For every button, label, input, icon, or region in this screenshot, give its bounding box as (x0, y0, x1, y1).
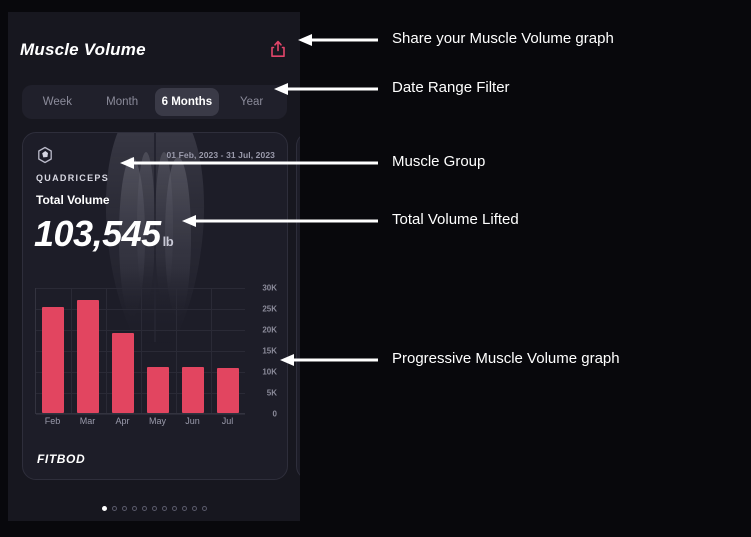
chart-bar[interactable] (112, 333, 134, 413)
muscle-group-icon (36, 146, 54, 164)
filter-option-month[interactable]: Month (90, 88, 155, 116)
chart-y-axis: 30K25K20K15K10K5K0 (249, 288, 277, 414)
annotation-arrow-total-volume (180, 214, 378, 228)
annotation-muscle-group: Muscle Group (392, 153, 485, 170)
chart-y-tick: 5K (267, 389, 277, 398)
annotation-arrow-progress-graph (278, 353, 378, 367)
chart-plot-area (35, 288, 245, 414)
chart-y-tick: 0 (273, 410, 277, 419)
chart-x-tick: Apr (108, 416, 138, 426)
chart-bars (36, 288, 245, 413)
annotation-progress-graph: Progressive Muscle Volume graph (392, 350, 620, 367)
pagination-dot[interactable] (202, 506, 207, 511)
chart-bar[interactable] (42, 307, 64, 413)
total-volume-value: 103,545lb (34, 213, 173, 255)
chart-y-tick: 10K (262, 368, 277, 377)
date-range-filter[interactable]: Week Month 6 Months Year (22, 85, 287, 119)
pagination-dot[interactable] (162, 506, 167, 511)
chart-bar[interactable] (147, 367, 169, 413)
pagination-dot[interactable] (182, 506, 187, 511)
annotation-arrow-muscle-group (118, 156, 378, 170)
chart-bar[interactable] (77, 300, 99, 413)
chart-bar[interactable] (182, 367, 204, 413)
chart-y-tick: 25K (262, 305, 277, 314)
pagination-dot[interactable] (152, 506, 157, 511)
chart-bar[interactable] (217, 368, 239, 413)
filter-option-6-months[interactable]: 6 Months (155, 88, 220, 116)
chart-gridline-h (36, 414, 245, 415)
annotation-arrow-date-filter (272, 82, 378, 96)
pagination-dot[interactable] (122, 506, 127, 511)
pagination-dot[interactable] (142, 506, 147, 511)
chart-x-tick: Feb (38, 416, 68, 426)
phone-screen: Muscle Volume Week Month 6 Months Year (8, 12, 300, 521)
total-volume-number: 103,545 (34, 213, 161, 254)
muscle-volume-card-next[interactable] (296, 132, 300, 480)
chart-y-tick: 15K (262, 347, 277, 356)
total-volume-unit: lb (163, 234, 174, 249)
chart-x-tick: May (143, 416, 173, 426)
chart-y-tick: 30K (262, 284, 277, 293)
chart-x-axis: FebMarAprMayJunJul (35, 416, 245, 426)
pagination-dot[interactable] (172, 506, 177, 511)
annotation-total-volume: Total Volume Lifted (392, 211, 519, 228)
filter-option-week[interactable]: Week (25, 88, 90, 116)
annotation-arrow-share (296, 33, 378, 47)
pagination-dot[interactable] (192, 506, 197, 511)
chart-y-tick: 20K (262, 326, 277, 335)
fitbod-logo: FITBOD (37, 452, 85, 466)
share-icon[interactable] (270, 40, 286, 58)
pagination-dot[interactable] (132, 506, 137, 511)
pagination-dot[interactable] (112, 506, 117, 511)
chart-x-tick: Mar (73, 416, 103, 426)
chart-x-tick: Jul (213, 416, 243, 426)
pagination-dot[interactable] (102, 506, 107, 511)
total-volume-label: Total Volume (36, 193, 110, 207)
carousel-pagination[interactable] (8, 506, 300, 511)
annotation-date-filter: Date Range Filter (392, 79, 510, 96)
screenshot-root: Muscle Volume Week Month 6 Months Year (0, 0, 751, 537)
app-header: Muscle Volume (8, 12, 300, 72)
muscle-volume-chart: 30K25K20K15K10K5K0 FebMarAprMayJunJul (35, 288, 277, 433)
muscle-volume-card[interactable]: 01 Feb, 2023 - 31 Jul, 2023 QUADRICEPS T… (22, 132, 288, 480)
annotation-share: Share your Muscle Volume graph (392, 30, 614, 47)
muscle-group-label: QUADRICEPS (36, 173, 109, 183)
page-title: Muscle Volume (20, 40, 146, 60)
chart-x-tick: Jun (178, 416, 208, 426)
